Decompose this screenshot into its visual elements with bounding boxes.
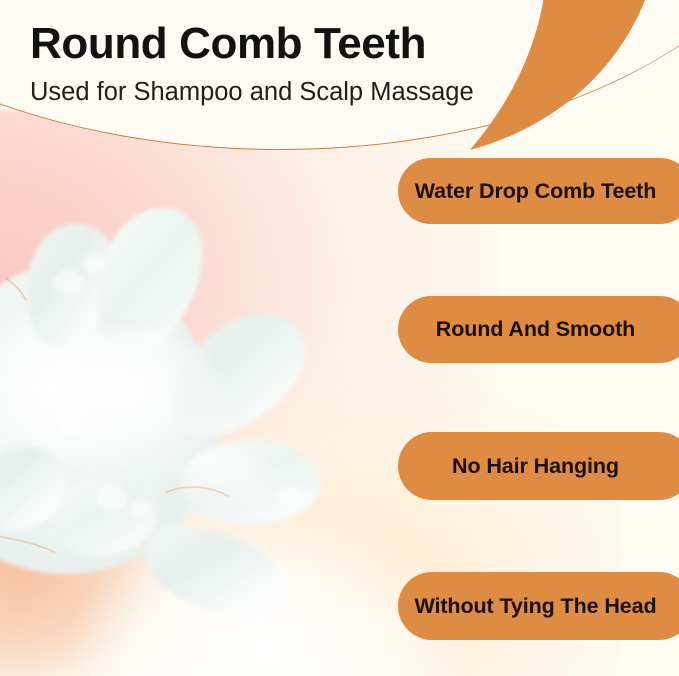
page-title: Round Comb Teeth [30, 18, 500, 70]
feature-pill-label: Water Drop Comb Teeth [415, 179, 657, 204]
feature-pill-no-hair-hanging[interactable]: No Hair Hanging [398, 432, 679, 500]
feature-pill-label: Round And Smooth [436, 317, 635, 342]
page-subtitle: Used for Shampoo and Scalp Massage [30, 76, 500, 108]
feature-pill-without-tying-the-head[interactable]: Without Tying The Head [398, 572, 679, 640]
product-infographic: Round Comb Teeth Used for Shampoo and Sc… [0, 0, 679, 676]
feature-pill-label: Without Tying The Head [414, 594, 656, 619]
heading-block: Round Comb Teeth Used for Shampoo and Sc… [30, 18, 500, 108]
feature-pill-label: No Hair Hanging [452, 454, 619, 479]
feature-pill-water-drop-comb-teeth[interactable]: Water Drop Comb Teeth [398, 158, 679, 224]
feature-pill-round-and-smooth[interactable]: Round And Smooth [398, 296, 679, 363]
